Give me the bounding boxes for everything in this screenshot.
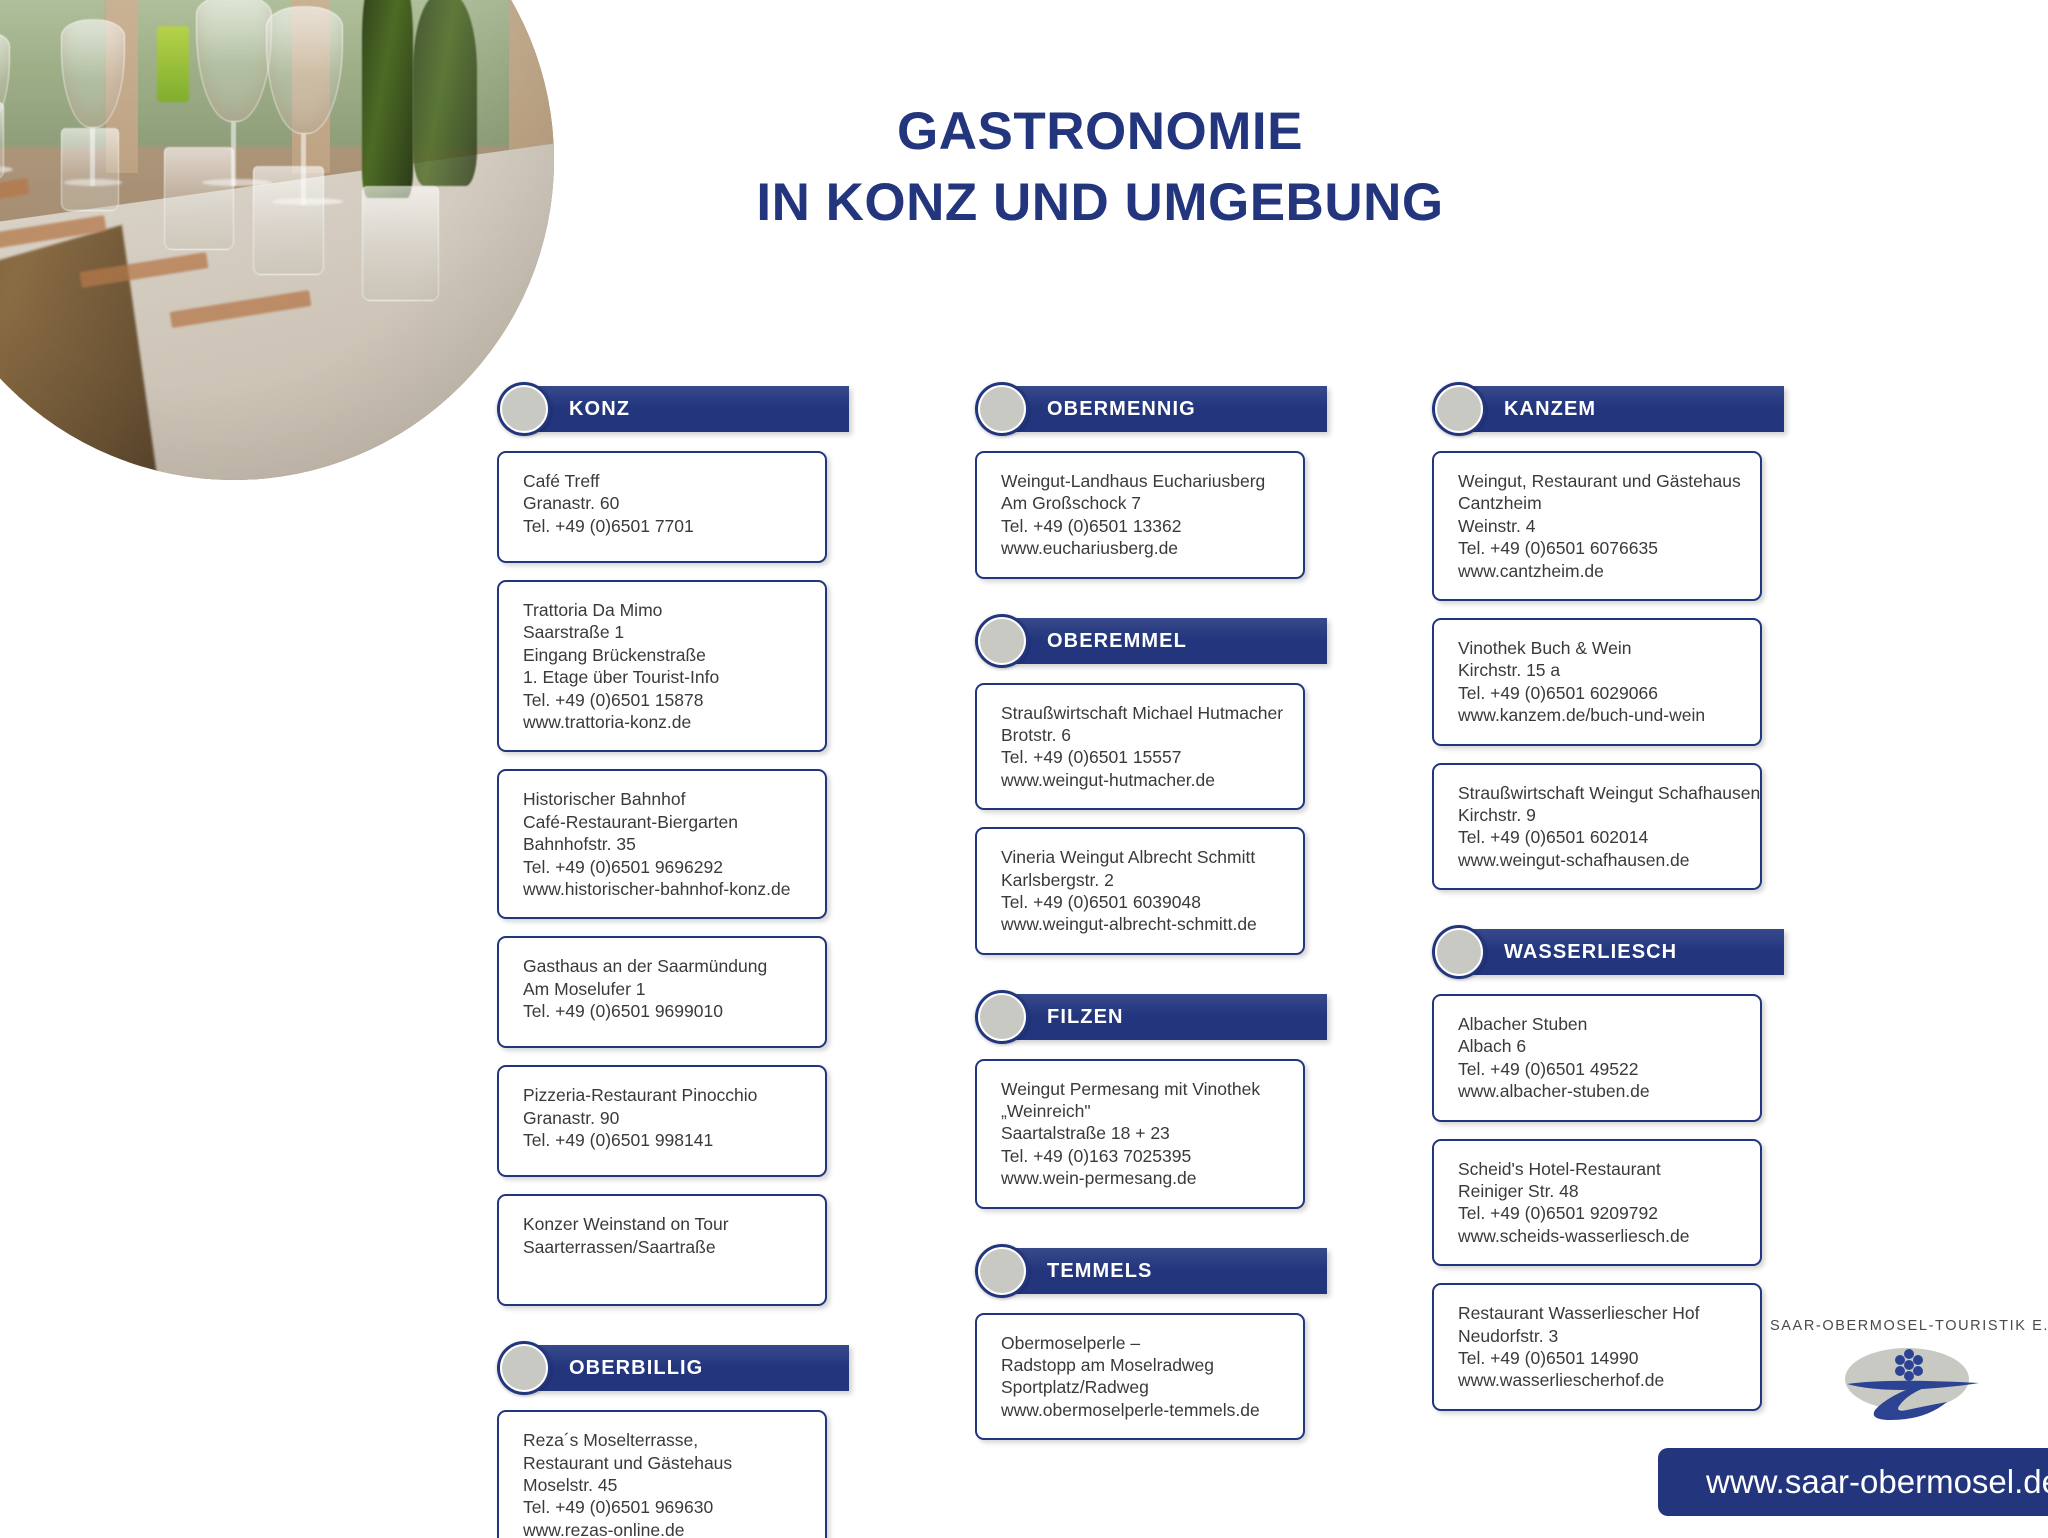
listing-line: Am Großschock 7 [1001,492,1281,514]
listing-line: Saarstraße 1 [523,621,803,643]
listing-line: www.kanzem.de/buch-und-wein [1458,704,1738,726]
listing-card[interactable]: Trattoria Da MimoSaarstraße 1Eingang Brü… [497,580,827,752]
listing-line: Restaurant Wasserliescher Hof [1458,1302,1738,1324]
listing-line: Restaurant und Gästehaus [523,1452,803,1474]
page-title: GASTRONOMIE IN KONZ UND UMGEBUNG [620,96,1580,238]
listing-line: Tel. +49 (0)6501 9209792 [1458,1202,1738,1224]
listing-card[interactable]: Reza´s Moselterrasse,Restaurant und Gäst… [497,1410,827,1538]
listing-line: www.wein-permesang.de [1001,1167,1281,1189]
listing-line: Tel. +49 (0)6501 49522 [1458,1058,1738,1080]
listing-line: Café Treff [523,470,803,492]
place-badge-circle-icon [1435,928,1483,976]
listing-line: Albacher Stuben [1458,1013,1738,1035]
section-spacer [975,1226,1305,1244]
listing-line: Weingut, Restaurant und Gästehaus [1458,470,1738,492]
place-name: OBEREMMEL [1047,618,1187,664]
listing-line: Saartalstraße 18 + 23 [1001,1122,1281,1144]
listing-line: www.obermoselperle-temmels.de [1001,1399,1281,1421]
listing-card[interactable]: Vinothek Buch & WeinKirchstr. 15 aTel. +… [1432,618,1762,746]
listing-line: Tel. +49 (0)6501 9699010 [523,1000,803,1022]
listing-line: Historischer Bahnhof [523,788,803,810]
listing-card[interactable]: Obermoselperle –Radstopp am MoselradwegS… [975,1313,1305,1441]
listing-line: Vinothek Buch & Wein [1458,637,1738,659]
place-name: KANZEM [1504,386,1596,432]
listing-line: Tel. +49 (0)6501 998141 [523,1129,803,1151]
title-line-1: GASTRONOMIE [620,96,1580,167]
listing-card[interactable]: Gasthaus an der Saarmündung Am Moselufer… [497,936,827,1048]
listing-line: Tel. +49 (0)6501 15557 [1001,746,1281,768]
listing-line: Tel. +49 (0)6501 969630 [523,1496,803,1518]
listing-line: Am Moselufer 1 [523,978,803,1000]
section-spacer [975,1457,1305,1475]
section-spacer [1432,907,1762,925]
listing-card[interactable]: Vineria Weingut Albrecht SchmittKarlsber… [975,827,1305,955]
listing-column-3: KANZEMWeingut, Restaurant und GästehausC… [1432,382,1762,1446]
listing-line: Weingut-Landhaus Euchariusberg [1001,470,1281,492]
listing-line: www.wasserliescherhof.de [1458,1369,1738,1391]
listing-line: Radstopp am Moselradweg [1001,1354,1281,1376]
listing-card[interactable]: Restaurant Wasserliescher HofNeudorfstr.… [1432,1283,1762,1411]
organization-logo: SAAR-OBERMOSEL-TOURISTIK E.V. [1770,1318,2048,1424]
place-name: TEMMELS [1047,1248,1152,1294]
listing-line: www.trattoria-konz.de [523,711,803,733]
place-name: OBERBILLIG [569,1345,703,1391]
listing-line: Tel. +49 (0)6501 13362 [1001,515,1281,537]
listing-line: Bahnhofstr. 35 [523,833,803,855]
listing-line: www.weingut-albrecht-schmitt.de [1001,913,1281,935]
listing-line: Tel. +49 (0)6501 15878 [523,689,803,711]
listing-card[interactable]: Café TreffGranastr. 60Tel. +49 (0)6501 7… [497,451,827,563]
listing-line: Trattoria Da Mimo [523,599,803,621]
place-header-konz: KONZ [497,382,827,436]
listing-line: Reza´s Moselterrasse, [523,1429,803,1451]
listing-line: Gasthaus an der Saarmündung [523,955,803,977]
listing-line: Kirchstr. 9 [1458,804,1738,826]
listing-card[interactable]: Weingut Permesang mit Vinothek„Weinreich… [975,1059,1305,1209]
listing-line: www.euchariusberg.de [1001,537,1281,559]
place-header-kanzem: KANZEM [1432,382,1762,436]
place-header-oberbillig: OBERBILLIG [497,1341,827,1395]
listing-column-1: KONZCafé TreffGranastr. 60Tel. +49 (0)65… [497,382,827,1538]
listing-line: Café-Restaurant-Biergarten [523,811,803,833]
listing-line: Straußwirtschaft Michael Hutmacher [1001,702,1281,724]
listing-card[interactable]: Straußwirtschaft Michael HutmacherBrotst… [975,683,1305,811]
listing-card[interactable]: Historischer BahnhofCafé-Restaurant-Bier… [497,769,827,919]
listing-line: Granastr. 60 [523,492,803,514]
listing-column-2: OBERMENNIGWeingut-Landhaus Euchariusberg… [975,382,1305,1475]
listing-line: Tel. +49 (0)6501 9696292 [523,856,803,878]
restaurant-photo [0,0,554,480]
listing-line: Scheid's Hotel-Restaurant [1458,1158,1738,1180]
listing-line: 1. Etage über Tourist-Info [523,666,803,688]
listing-card[interactable]: Straußwirtschaft Weingut SchafhausenKirc… [1432,763,1762,891]
section-spacer [497,1323,827,1341]
section-spacer [975,596,1305,614]
listing-line: Eingang Brückenstraße [523,644,803,666]
listing-card[interactable]: Pizzeria-Restaurant PinocchioGranastr. 9… [497,1065,827,1177]
listing-line: Pizzeria-Restaurant Pinocchio [523,1084,803,1106]
listing-line: www.weingut-hutmacher.de [1001,769,1281,791]
listing-line: Konzer Weinstand on Tour [523,1213,803,1235]
listing-card[interactable]: Albacher StubenAlbach 6Tel. +49 (0)6501 … [1432,994,1762,1122]
listing-line: Moselstr. 45 [523,1474,803,1496]
listing-card[interactable]: Weingut-Landhaus EuchariusbergAm Großsch… [975,451,1305,579]
listing-line: Obermoselperle – [1001,1332,1281,1354]
place-header-obermennig: OBERMENNIG [975,382,1305,436]
listing-line: Tel. +49 (0)6501 14990 [1458,1347,1738,1369]
poster-page: GASTRONOMIE IN KONZ UND UMGEBUNG KONZCaf… [0,0,2048,1538]
place-badge-circle-icon [978,993,1026,1041]
listing-line: Albach 6 [1458,1035,1738,1057]
section-spacer [975,972,1305,990]
listing-line: Granastr. 90 [523,1107,803,1129]
listing-line: www.historischer-bahnhof-konz.de [523,878,803,900]
listing-line: Vineria Weingut Albrecht Schmitt [1001,846,1281,868]
place-name: OBERMENNIG [1047,386,1196,432]
grape-and-river-icon [1829,1340,1989,1424]
title-line-2: IN KONZ UND UMGEBUNG [620,167,1580,238]
listing-line: Tel. +49 (0)6501 6039048 [1001,891,1281,913]
listing-line: www.cantzheim.de [1458,560,1738,582]
listing-line: Sportplatz/Radweg [1001,1376,1281,1398]
listing-line: Tel. +49 (0)6501 7701 [523,515,803,537]
listing-line: Saarterrassen/Saartraße [523,1236,803,1258]
website-banner[interactable]: www.saar-obermosel.de [1658,1448,2048,1516]
listing-line: Cantzheim [1458,492,1738,514]
place-name: KONZ [569,386,630,432]
listing-line: www.scheids-wasserliesch.de [1458,1225,1738,1247]
listing-line: Reiniger Str. 48 [1458,1180,1738,1202]
listing-line: „Weinreich" [1001,1100,1281,1122]
listing-line: Kirchstr. 15 a [1458,659,1738,681]
listing-line: Brotstr. 6 [1001,724,1281,746]
listing-line: Weingut Permesang mit Vinothek [1001,1078,1281,1100]
organization-name: SAAR-OBERMOSEL-TOURISTIK E.V. [1770,1318,2048,1334]
listing-line: Tel. +49 (0)6501 6076635 [1458,537,1738,559]
place-name: WASSERLIESCH [1504,929,1677,975]
website-url: www.saar-obermosel.de [1658,1448,2048,1516]
listing-card[interactable]: Weingut, Restaurant und GästehausCantzhe… [1432,451,1762,601]
listing-line: Neudorfstr. 3 [1458,1325,1738,1347]
section-spacer [1432,1428,1762,1446]
listing-card[interactable]: Scheid's Hotel-RestaurantReiniger Str. 4… [1432,1139,1762,1267]
listing-line: www.weingut-schafhausen.de [1458,849,1738,871]
place-header-oberemmel: OBEREMMEL [975,614,1305,668]
listing-line: Straußwirtschaft Weingut Schafhausen [1458,782,1738,804]
listing-line: Tel. +49 (0)6501 602014 [1458,826,1738,848]
listing-line: Tel. +49 (0)6501 6029066 [1458,682,1738,704]
place-badge-circle-icon [978,1247,1026,1295]
place-header-wasserliesch: WASSERLIESCH [1432,925,1762,979]
place-badge-circle-icon [978,385,1026,433]
place-header-temmels: TEMMELS [975,1244,1305,1298]
place-badge-circle-icon [978,617,1026,665]
listing-line: www.albacher-stuben.de [1458,1080,1738,1102]
place-badge-circle-icon [500,385,548,433]
listing-card[interactable]: Konzer Weinstand on TourSaarterrassen/Sa… [497,1194,827,1306]
place-name: FILZEN [1047,994,1124,1040]
place-badge-circle-icon [1435,385,1483,433]
place-badge-circle-icon [500,1344,548,1392]
place-header-filzen: FILZEN [975,990,1305,1044]
listing-line: Tel. +49 (0)163 7025395 [1001,1145,1281,1167]
listing-line: Karlsbergstr. 2 [1001,869,1281,891]
listing-line: www.rezas-online.de [523,1519,803,1538]
listing-line: Weinstr. 4 [1458,515,1738,537]
